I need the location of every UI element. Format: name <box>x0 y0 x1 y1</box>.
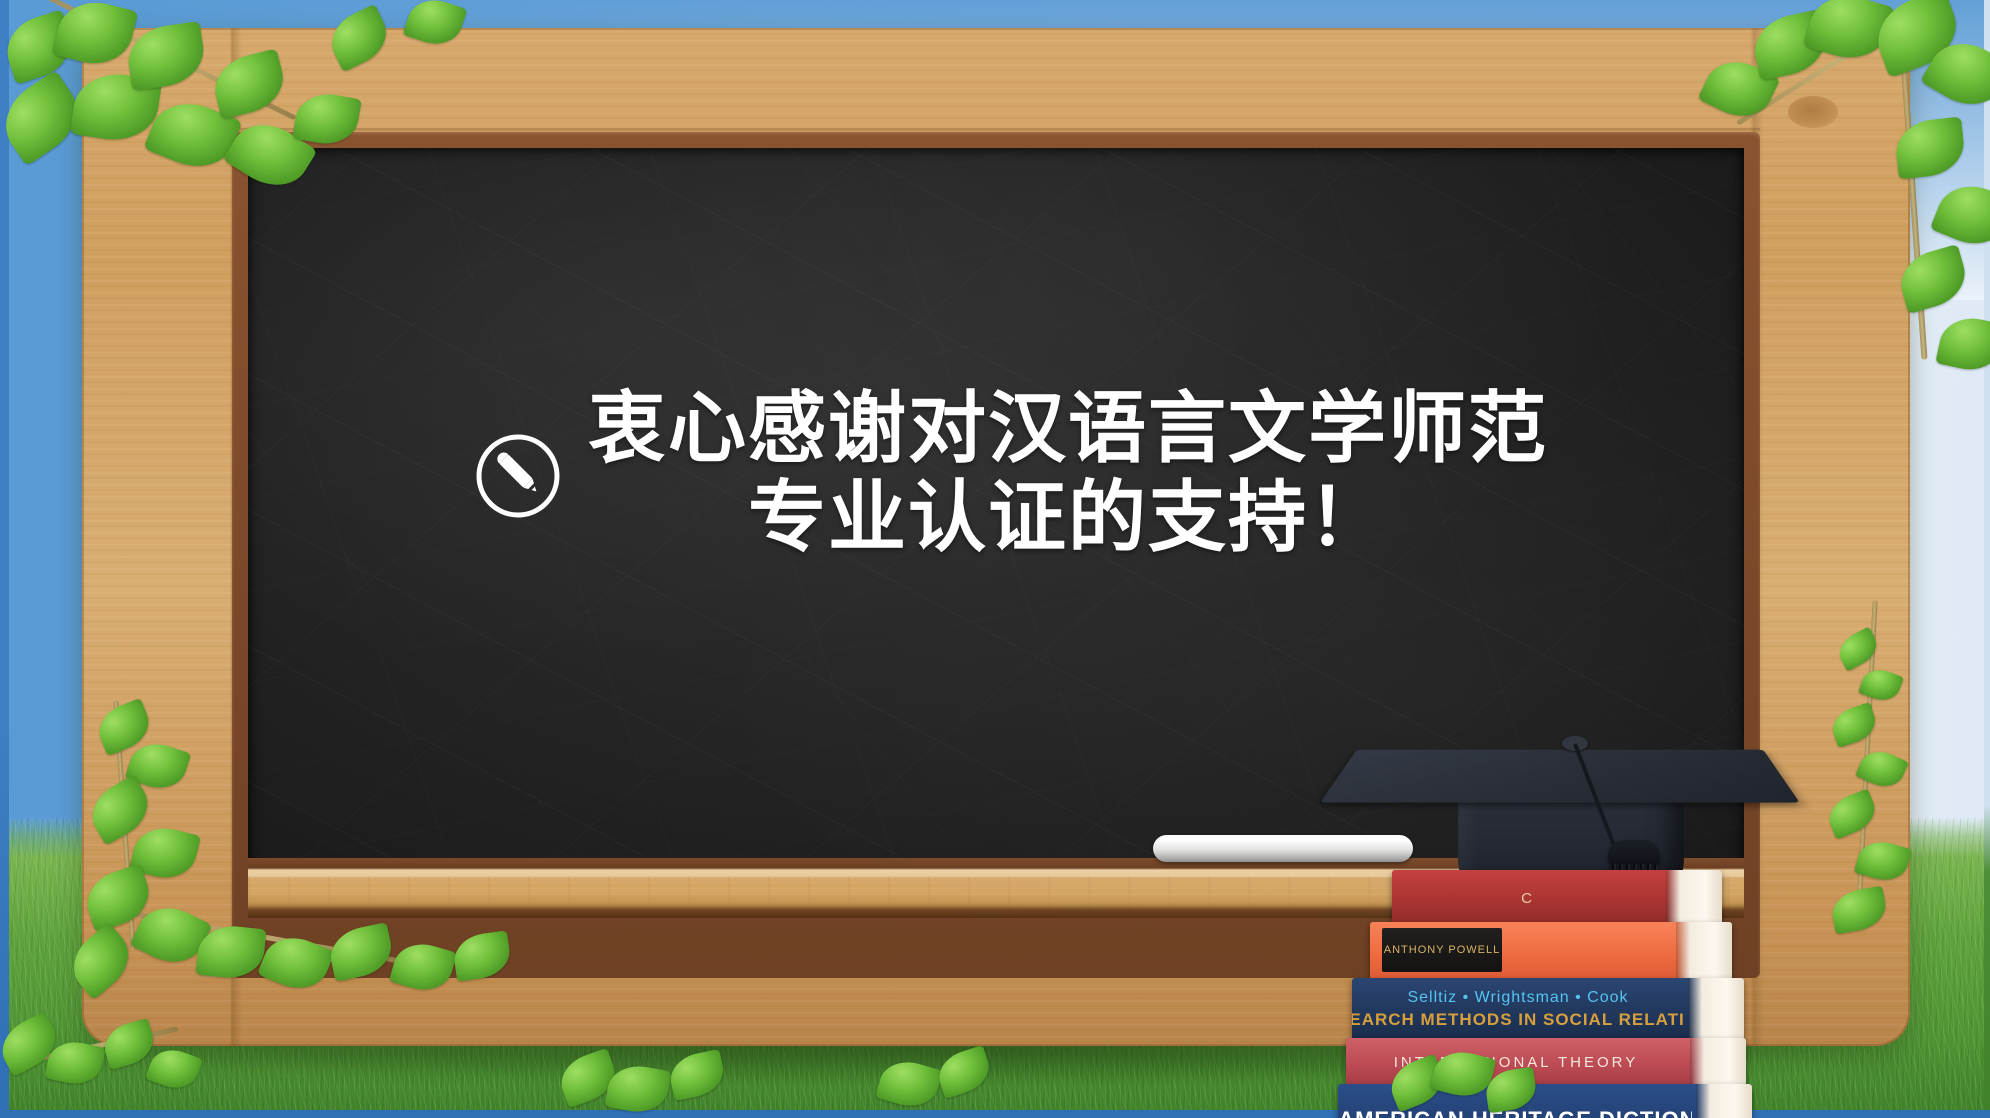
presentation-slide: 衷心感谢对汉语言文学师范 专业认证的支持！ <box>0 0 1990 1118</box>
book-spine: Selltiz • Wrightsman • Cook RESEARCH MET… <box>1352 978 1684 1040</box>
book-spine-text: RESEARCH METHODS IN SOCIAL RELATIONS <box>1352 1010 1684 1030</box>
cap-mortarboard <box>1320 750 1800 803</box>
headline-line-1: 衷心感谢对汉语言文学师范 <box>588 384 1548 473</box>
book-spine-text: C <box>1392 870 1662 926</box>
book-pages <box>1666 870 1722 926</box>
headline-block: 衷心感谢对汉语言文学师范 专业认证的支持！ <box>248 384 1744 562</box>
book-orange-inlay-label: ANTHONY POWELL <box>1382 928 1502 972</box>
book-pages <box>1676 922 1732 980</box>
book-pages <box>1690 1038 1746 1086</box>
slide-edge-left <box>0 0 9 1118</box>
book-pages <box>1696 1084 1752 1118</box>
book-research-methods: Selltiz • Wrightsman • Cook RESEARCH MET… <box>1352 978 1744 1040</box>
graduation-cap-and-books: C ANTHONY POWELL Selltiz • Wrightsman • … <box>1330 700 1810 1118</box>
book-pages <box>1688 978 1744 1040</box>
book-authors: Selltiz • Wrightsman • Cook <box>1407 989 1628 1007</box>
slide-edge-right <box>1984 0 1990 1118</box>
book-red-top: C <box>1392 870 1722 926</box>
pencil-in-circle-icon <box>474 432 562 520</box>
headline-line-2: 专业认证的支持！ <box>588 473 1548 562</box>
wood-knot-detail <box>1788 96 1838 128</box>
page-title: 衷心感谢对汉语言文学师范 专业认证的支持！ <box>588 384 1548 562</box>
